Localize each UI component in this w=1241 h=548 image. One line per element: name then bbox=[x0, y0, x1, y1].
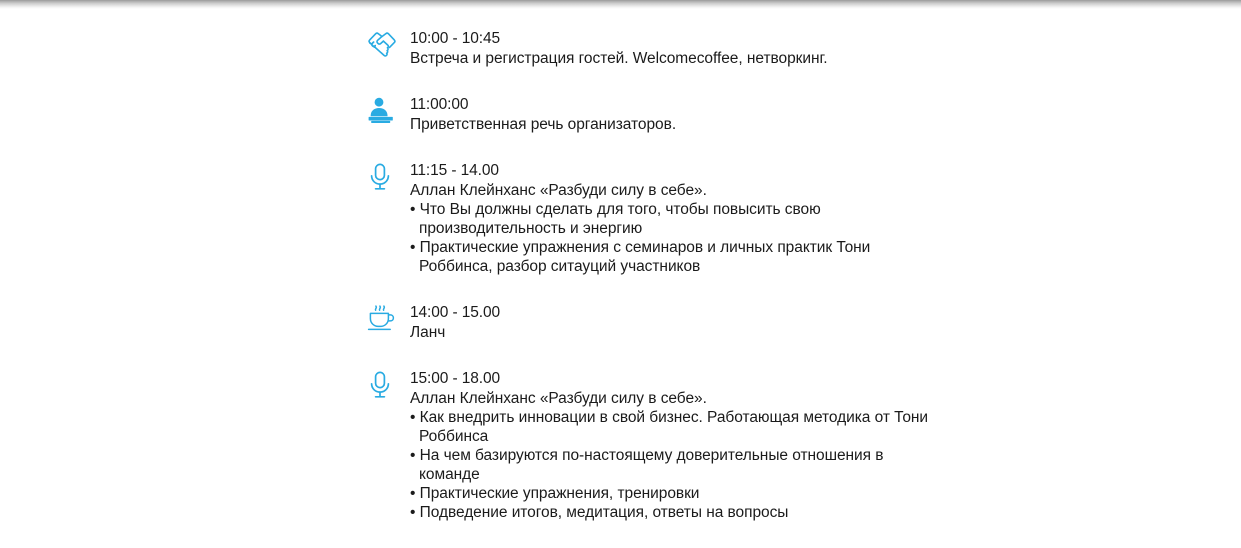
handshake-icon bbox=[366, 30, 400, 64]
schedule-list: 10:00 - 10:45 Встреча и регистрация гост… bbox=[366, 28, 1186, 548]
schedule-item-body: 15:00 - 18.00 Аллан Клейнханс «Разбуди с… bbox=[410, 368, 1186, 522]
schedule-item-bullets: • Что Вы должны сделать для того, чтобы … bbox=[410, 200, 1186, 276]
schedule-item-bullets: • Как внедрить инновации в свой бизнес. … bbox=[410, 408, 1186, 522]
header-shadow-strip bbox=[0, 0, 1241, 9]
schedule-item-time: 10:00 - 10:45 bbox=[410, 29, 1186, 48]
schedule-item-time: 14:00 - 15.00 bbox=[410, 303, 1186, 322]
schedule-item-description: Аллан Клейнханс «Разбуди силу в себе». bbox=[410, 181, 1186, 200]
schedule-bullet: • Практические упражнения с семинаров и … bbox=[410, 238, 929, 276]
schedule-item-body: 14:00 - 15.00 Ланч bbox=[410, 302, 1186, 342]
microphone-icon bbox=[366, 162, 400, 196]
schedule-item: 11:00:00 Приветственная речь организатор… bbox=[366, 94, 1186, 134]
coffee-cup-icon bbox=[366, 304, 400, 338]
schedule-bullet: • Подведение итогов, медитация, ответы н… bbox=[410, 503, 929, 522]
schedule-item-description: Встреча и регистрация гостей. Welcomecof… bbox=[410, 49, 1186, 68]
schedule-item-description: Аллан Клейнханс «Разбуди силу в себе». bbox=[410, 389, 1186, 408]
schedule-item-body: 10:00 - 10:45 Встреча и регистрация гост… bbox=[410, 28, 1186, 68]
schedule-item: 11:15 - 14.00 Аллан Клейнханс «Разбуди с… bbox=[366, 160, 1186, 276]
schedule-item-time: 15:00 - 18.00 bbox=[410, 369, 1186, 388]
speaker-podium-icon bbox=[366, 96, 400, 130]
microphone-icon bbox=[366, 370, 400, 404]
schedule-bullet: • Практические упражнения, тренировки bbox=[410, 484, 929, 503]
schedule-item: 14:00 - 15.00 Ланч bbox=[366, 302, 1186, 342]
page-root: 10:00 - 10:45 Встреча и регистрация гост… bbox=[0, 0, 1241, 517]
schedule-bullet: • Как внедрить инновации в свой бизнес. … bbox=[410, 408, 929, 446]
schedule-item-description: Приветственная речь организаторов. bbox=[410, 115, 1186, 134]
schedule-bullet: • Что Вы должны сделать для того, чтобы … bbox=[410, 200, 929, 238]
schedule-item-body: 11:00:00 Приветственная речь организатор… bbox=[410, 94, 1186, 134]
schedule-item: 10:00 - 10:45 Встреча и регистрация гост… bbox=[366, 28, 1186, 68]
schedule-item-description: Ланч bbox=[410, 323, 1186, 342]
schedule-item-time: 11:15 - 14.00 bbox=[410, 161, 1186, 180]
schedule-item-body: 11:15 - 14.00 Аллан Клейнханс «Разбуди с… bbox=[410, 160, 1186, 276]
schedule-item-time: 11:00:00 bbox=[410, 95, 1186, 114]
schedule-bullet: • На чем базируются по-настоящему довери… bbox=[410, 446, 929, 484]
schedule-item: 15:00 - 18.00 Аллан Клейнханс «Разбуди с… bbox=[366, 368, 1186, 522]
